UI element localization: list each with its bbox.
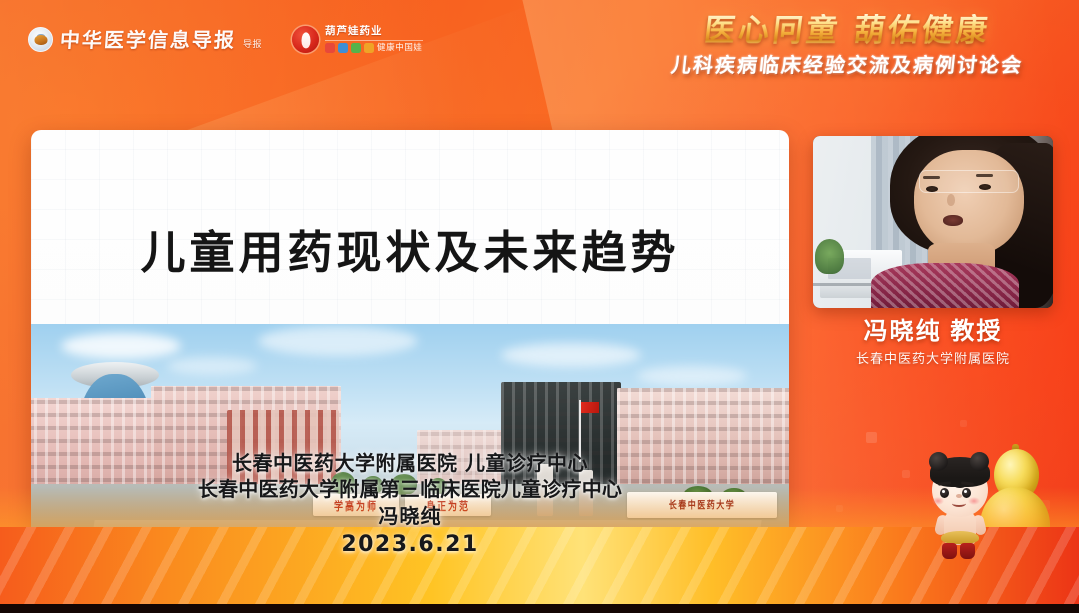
primary-logo-text: 中华医学信息导报 (59, 30, 236, 50)
mascot-hair-bun-left (929, 452, 948, 471)
red-gourd-roundel-icon (292, 26, 319, 53)
speaker-brow-left (923, 176, 940, 179)
national-emblem-seal-icon (28, 27, 53, 52)
cloud (258, 326, 418, 356)
event-banner-subtitle: 儿科疾病临床经验交流及病例讨论会 (636, 54, 1058, 77)
event-banner-title: 医心冋童 葫佑健康 (635, 14, 1059, 49)
slide-subtitle-line: 长春中医药大学附属医院 儿童诊疗中心 (31, 450, 789, 476)
sponsor-divider (325, 40, 423, 41)
cloud (637, 366, 747, 386)
bokeh-fleck (866, 432, 877, 443)
mascot-eye-right (962, 488, 971, 498)
sponsor-logo: 葫芦娃药业 健康中国娃 (292, 26, 423, 53)
presenter-affiliation: 长春中医药大学附属医院 (813, 351, 1053, 367)
cloud (501, 343, 641, 367)
speaker-face (914, 150, 1024, 257)
mascot-eye-left (940, 488, 949, 498)
mascot-boot-left (942, 543, 957, 559)
mascot-mouth (952, 500, 966, 507)
sponsor-logo-line-2: 健康中国娃 (377, 43, 423, 52)
mascot-boot-right (960, 543, 975, 559)
slide-subtitle-block: 长春中医药大学附属医院 儿童诊疗中心 长春中医药大学附属第三临床医院儿童诊疗中心… (31, 450, 789, 559)
mascot-cheek-left (932, 497, 944, 505)
bokeh-fleck (836, 505, 843, 512)
speaker-brow-right (976, 174, 993, 177)
sponsor-chip-green (351, 43, 361, 53)
cloud (61, 333, 181, 359)
national-flag (581, 402, 599, 413)
slide-title: 儿童用药现状及未来趋势 (31, 216, 789, 281)
bokeh-fleck (902, 470, 910, 478)
bokeh-fleck (960, 420, 967, 427)
sponsor-chip-blue (338, 43, 348, 53)
mascot-hair-bun-right (970, 452, 989, 471)
sponsor-chip-orange (364, 43, 374, 53)
presenter-name: 冯晓纯 教授 (813, 318, 1053, 347)
speaker-mouth (943, 215, 963, 226)
slide-subtitle-line: 长春中医药大学附属第三临床医院儿童诊疗中心 (31, 476, 789, 502)
sponsor-line-2-row: 健康中国娃 (325, 43, 423, 53)
mascot-nose (956, 494, 962, 498)
presenter-caption: 冯晓纯 教授 长春中医药大学附属医院 (813, 318, 1053, 366)
sponsor-text-column: 葫芦娃药业 健康中国娃 (325, 26, 423, 52)
slide-subtitle-date: 2023.6.21 (31, 530, 789, 559)
event-banner: 医心冋童 葫佑健康 儿科疾病临床经验交流及病例讨论会 (637, 14, 1057, 77)
logo-bar: 中华医学信息导报 导报 葫芦娃药业 健康中国娃 (28, 26, 423, 53)
speaker-video-feed[interactable] (813, 136, 1053, 308)
cloud (167, 357, 257, 375)
bottom-letterbox (0, 604, 1079, 613)
primary-logo-suffix: 导报 (243, 37, 262, 52)
broadcast-stage: 中华医学信息导报 导报 葫芦娃药业 健康中国娃 医心冋童 葫佑健康 儿科疾病临床… (0, 0, 1079, 613)
speaker-eye-left (926, 186, 938, 192)
video-background-plant (815, 239, 844, 273)
slide-subtitle-line: 冯晓纯 (31, 503, 789, 529)
mascot-cheek-right (968, 497, 980, 505)
presentation-slide[interactable]: 儿童用药现状及未来趋势 (31, 130, 789, 560)
primary-logo: 中华医学信息导报 导报 (28, 27, 262, 52)
sponsor-logo-line-1: 葫芦娃药业 (325, 26, 423, 37)
speaker-clothing (871, 263, 1020, 308)
sponsor-chip-red (325, 43, 335, 53)
speaker-eye-right (979, 184, 991, 190)
